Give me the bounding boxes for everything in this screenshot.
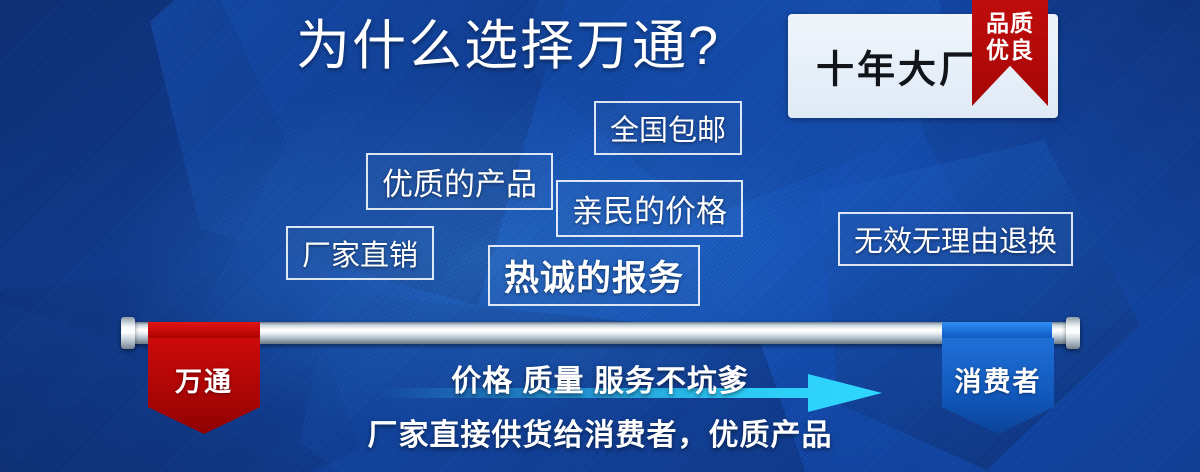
connector-rod	[124, 322, 1078, 344]
page-title: 为什么选择万通?	[296, 16, 720, 76]
slogan-primary: 价格 质量 服务不坑爹	[0, 356, 1200, 400]
ribbon-label: 品质优良	[972, 10, 1048, 63]
ribbon-line-2: 优良	[986, 37, 1034, 63]
tag-nationwide-shipping: 全国包邮	[594, 101, 742, 155]
ribbon-line-1: 品质	[986, 10, 1034, 36]
tag-friendly-price: 亲民的价格	[556, 180, 743, 237]
rod-end-cap-right	[1066, 317, 1080, 349]
tag-free-return: 无效无理由退换	[838, 212, 1073, 266]
tag-quality-product: 优质的产品	[366, 153, 553, 210]
promo-banner: 为什么选择万通? 十年大厂 品质优良 全国包邮 优质的产品 亲民的价格 无效无理…	[0, 0, 1200, 472]
tag-factory-direct: 厂家直销	[286, 226, 434, 280]
rod-end-cap-left	[121, 317, 135, 349]
tag-sincere-service: 热诚的报务	[488, 245, 700, 306]
slogan-secondary: 厂家直接供货给消费者，优质产品	[0, 410, 1200, 454]
badge-panel-label: 十年大厂	[816, 39, 980, 94]
